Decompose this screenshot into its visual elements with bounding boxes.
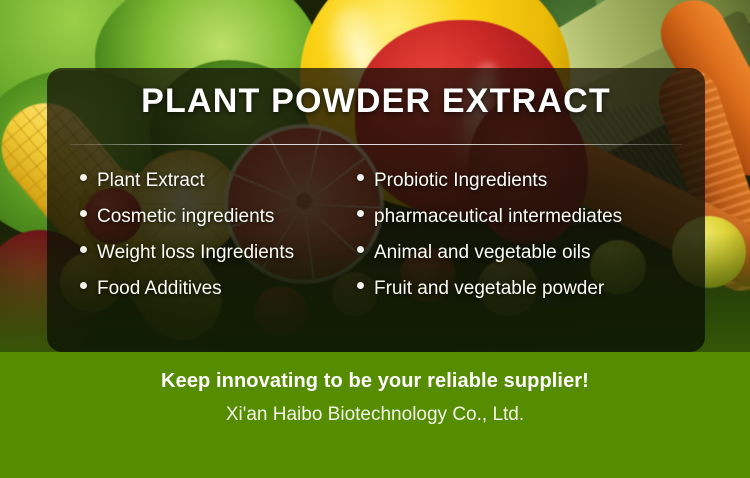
promo-banner: PLANT POWDER EXTRACT Plant Extract Cosme… [0, 0, 750, 478]
title-divider [70, 144, 682, 145]
list-item: Weight loss Ingredients [80, 242, 347, 278]
list-item-label: Fruit and vegetable powder [374, 278, 604, 300]
list-item-label: pharmaceutical intermediates [374, 206, 622, 228]
bullet-dot-icon [80, 282, 87, 289]
bullet-dot-icon [357, 282, 364, 289]
list-item-label: Animal and vegetable oils [374, 242, 591, 264]
list-item-label: Cosmetic ingredients [97, 206, 274, 228]
list-item-label: Food Additives [97, 278, 222, 300]
list-item: Probiotic Ingredients [357, 170, 705, 206]
list-item: Plant Extract [80, 170, 347, 206]
feature-columns: Plant Extract Cosmetic ingredients Weigh… [47, 170, 705, 314]
page-title: PLANT POWDER EXTRACT [47, 82, 705, 121]
list-item-label: Plant Extract [97, 170, 205, 192]
list-item-label: Probiotic Ingredients [374, 170, 547, 192]
bullet-dot-icon [357, 174, 364, 181]
list-item: Animal and vegetable oils [357, 242, 705, 278]
tagline-text: Keep innovating to be your reliable supp… [0, 370, 750, 393]
list-item: Cosmetic ingredients [80, 206, 347, 242]
content-panel: PLANT POWDER EXTRACT Plant Extract Cosme… [47, 68, 705, 352]
list-item: Fruit and vegetable powder [357, 278, 705, 314]
company-name: Xi'an Haibo Biotechnology Co., Ltd. [0, 404, 750, 426]
list-item-label: Weight loss Ingredients [97, 242, 294, 264]
feature-column-right: Probiotic Ingredients pharmaceutical int… [347, 170, 705, 314]
bullet-dot-icon [357, 210, 364, 217]
list-item: Food Additives [80, 278, 347, 314]
feature-column-left: Plant Extract Cosmetic ingredients Weigh… [47, 170, 347, 314]
bullet-dot-icon [80, 246, 87, 253]
footer-band: Keep innovating to be your reliable supp… [0, 352, 750, 478]
bullet-dot-icon [80, 210, 87, 217]
bullet-dot-icon [357, 246, 364, 253]
list-item: pharmaceutical intermediates [357, 206, 705, 242]
bullet-dot-icon [80, 174, 87, 181]
